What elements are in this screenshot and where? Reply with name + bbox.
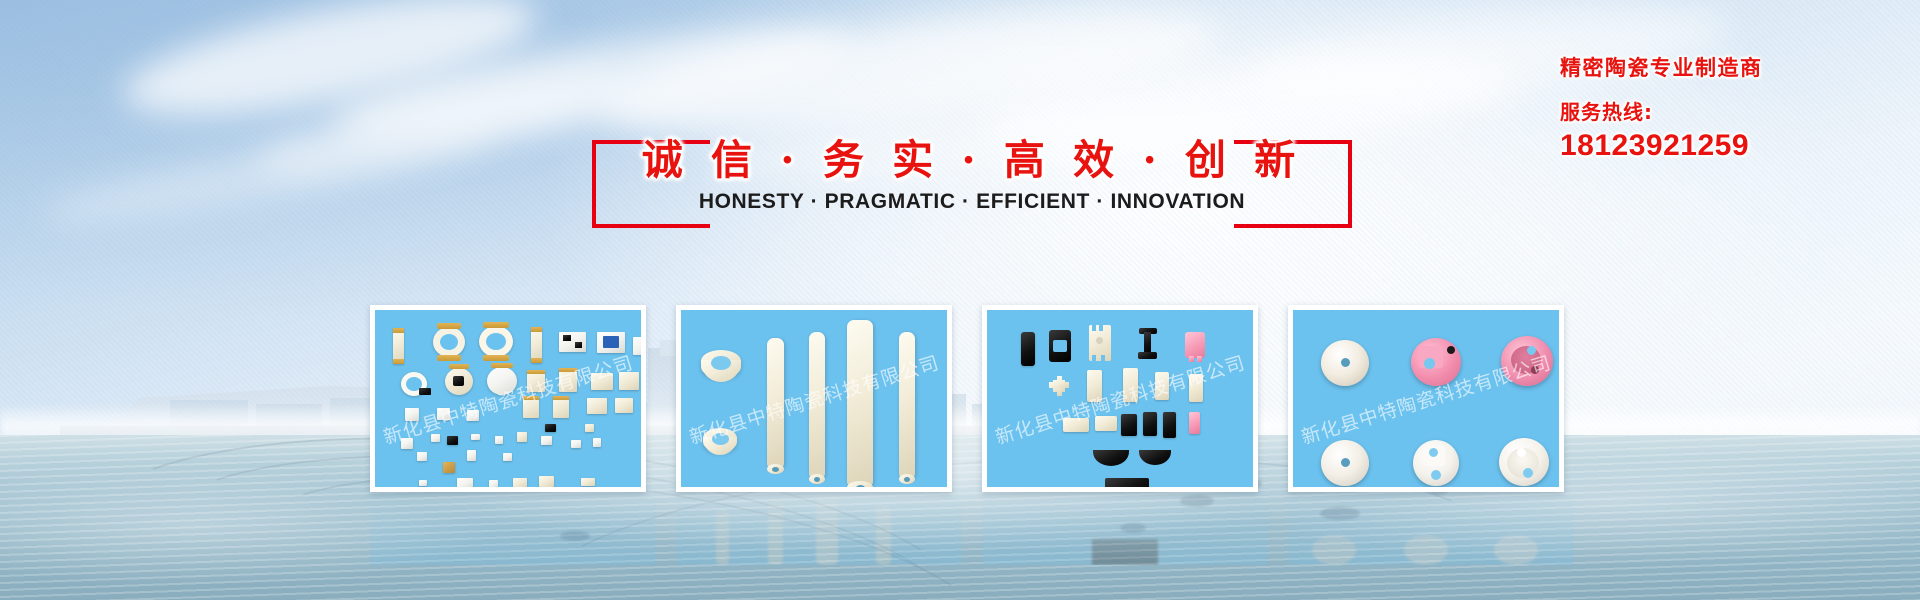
hotline-phone-number[interactable]: 18123921259 bbox=[1560, 129, 1900, 163]
panel-reflection bbox=[1288, 487, 1574, 565]
slogan-chinese: 诚 信 · 务 实 · 高 效 · 创 新 bbox=[592, 126, 1352, 186]
product-panel-discs[interactable]: 新化县中特陶瓷科技有限公司 bbox=[1288, 305, 1564, 492]
panel-reflection bbox=[370, 487, 656, 565]
panel-reflection bbox=[982, 487, 1268, 565]
company-tagline: 精密陶瓷专业制造商 bbox=[1560, 52, 1900, 82]
hotline-label: 服务热线: bbox=[1560, 96, 1900, 125]
product-panel-tubes-rings[interactable]: 新化县中特陶瓷科技有限公司 bbox=[676, 305, 952, 492]
product-panel-smd-components[interactable]: 新化县中特陶瓷科技有限公司 bbox=[370, 305, 646, 492]
slogan-english: HONESTY · PRAGMATIC · EFFICIENT · INNOVA… bbox=[592, 190, 1352, 214]
panel-reflection bbox=[676, 487, 962, 565]
product-panel-blocks-arcs[interactable]: 新化县中特陶瓷科技有限公司 bbox=[982, 305, 1258, 492]
promotional-banner: 诚 信 · 务 实 · 高 效 · 创 新 HONESTY · PRAGMATI… bbox=[0, 0, 1920, 600]
contact-block: 精密陶瓷专业制造商 服务热线: 18123921259 bbox=[1560, 52, 1900, 163]
slogan-block: 诚 信 · 务 实 · 高 效 · 创 新 HONESTY · PRAGMATI… bbox=[592, 130, 1352, 242]
